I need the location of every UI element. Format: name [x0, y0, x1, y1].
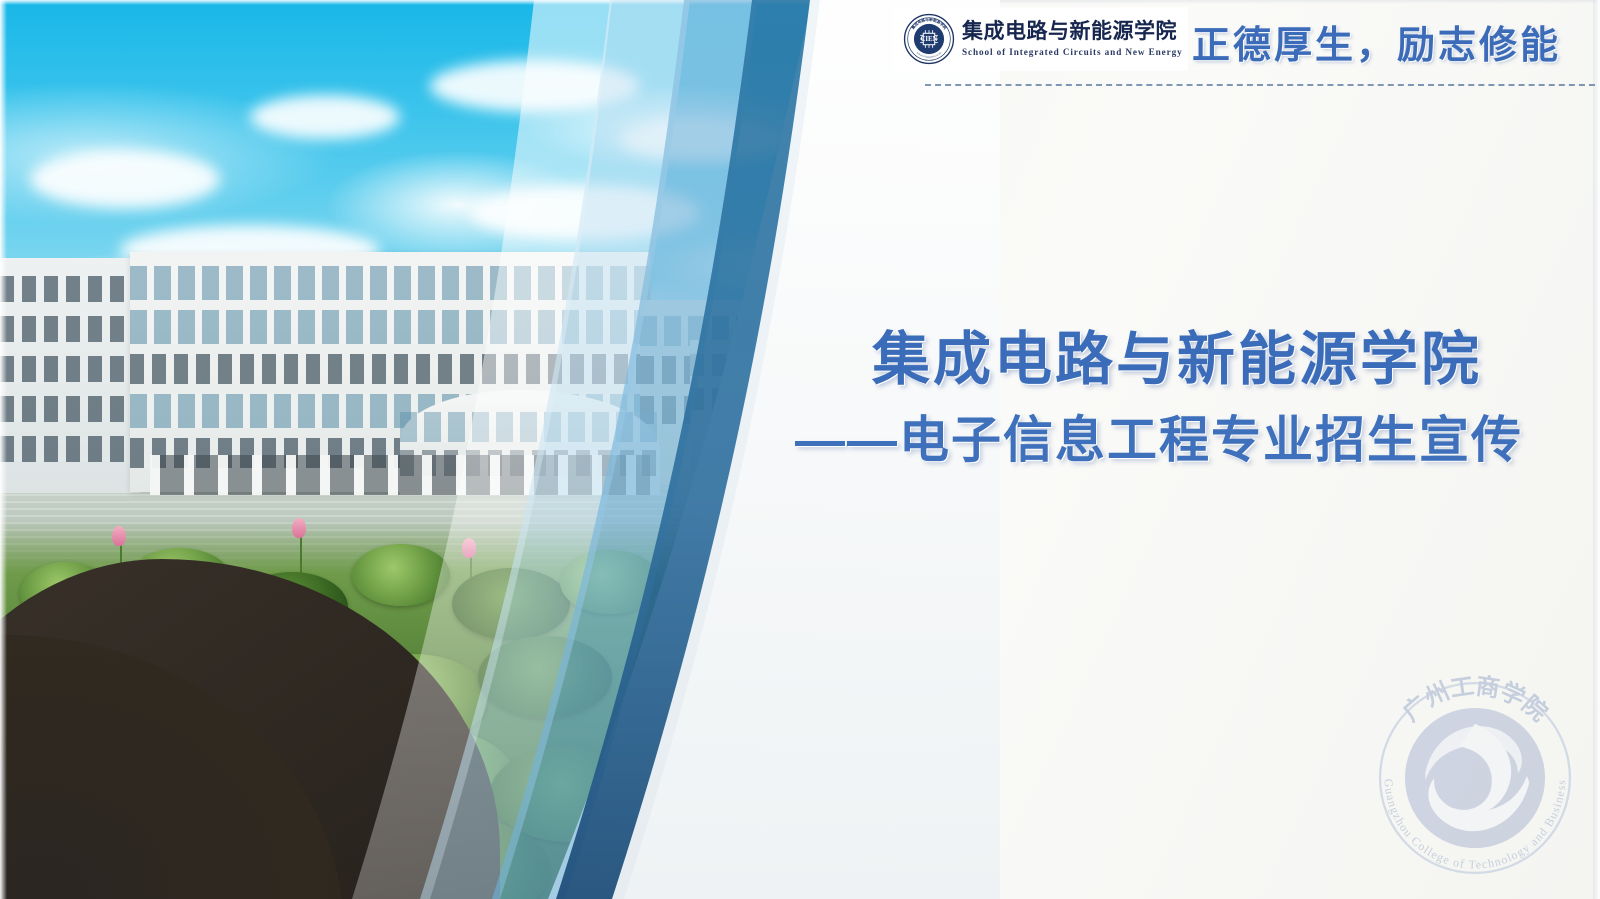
university-emblem-icon: 广州工商学院 Guangzhou College of Technology a… — [1362, 665, 1588, 891]
photo-top-edge — [0, 0, 880, 5]
page-subtitle: ——电子信息工程专业招生宣传 — [795, 400, 1523, 472]
slide-canvas: CIEN 集成电路与新能源学院 School of Integrated Cir… — [0, 0, 1600, 899]
header-org-name-en: School of Integrated Circuits and New En… — [962, 47, 1183, 57]
header-dashed-divider — [925, 84, 1595, 86]
header-org-name-cn: 集成电路与新能源学院 — [962, 21, 1183, 43]
header-logo-block: CIEN 集成电路与新能源学院 School of Integrated Cir… — [895, 8, 1187, 70]
cloud-shape — [430, 60, 640, 112]
cloud-shape — [250, 95, 400, 139]
panel-right-edge — [1593, 0, 1600, 899]
lotus-bud — [462, 538, 476, 558]
photo-left-edge — [0, 0, 7, 899]
cloud-shape — [470, 185, 700, 241]
school-slogan: 正德厚生，励志修能 — [1192, 14, 1561, 69]
school-seal-icon: CIEN 集成电路与新能源学院 School of Integrated Cir… — [903, 13, 955, 65]
lotus-bud — [292, 518, 306, 538]
cloud-shape — [30, 150, 220, 208]
building-colonnade — [150, 455, 650, 495]
cloud-shape — [620, 120, 790, 160]
lotus-bud — [112, 526, 126, 546]
svg-text:CIEN: CIEN — [921, 36, 938, 43]
building-left-wing — [0, 258, 140, 493]
page-title: 集成电路与新能源学院 — [872, 312, 1482, 396]
